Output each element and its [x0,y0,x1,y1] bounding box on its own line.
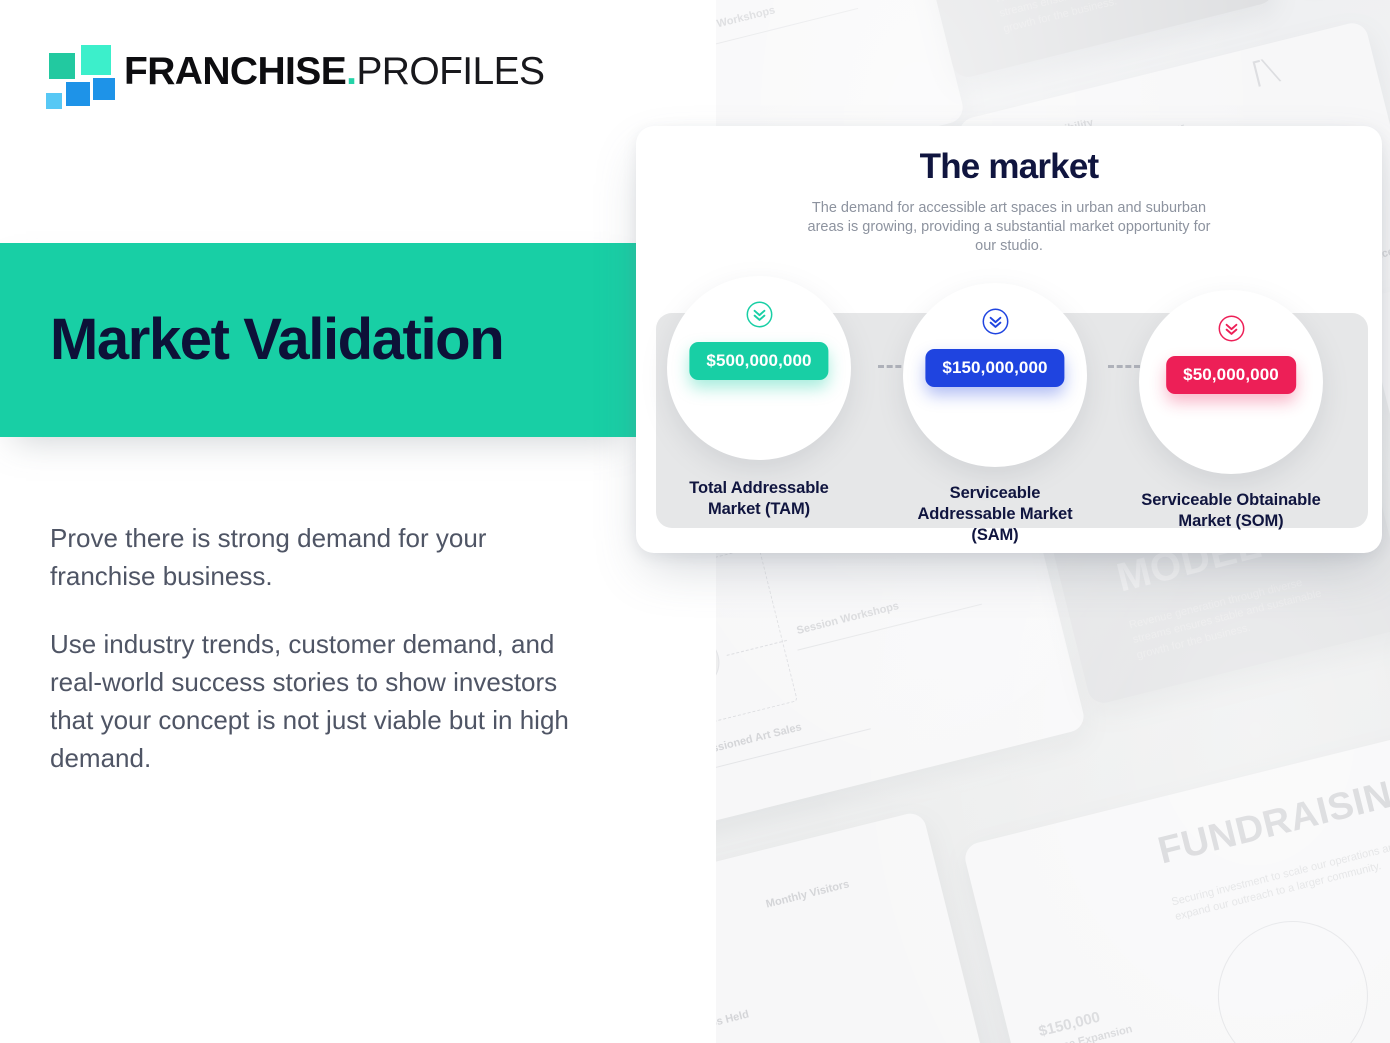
logo-square-2 [81,45,111,75]
body-paragraph-1: Prove there is strong demand for your fr… [50,520,590,596]
bg-slide-card: FUNDRAISING Securing investment to scale… [962,733,1390,1043]
market-node-sam[interactable]: $150,000,000 Serviceable Addressable Mar… [901,283,1089,545]
market-card: The market The demand for accessible art… [636,126,1382,553]
market-bubble-sam: $150,000,000 [903,283,1087,467]
bg-label: Monthly Visitors [765,878,851,910]
bg-label: Session Workshops [795,600,900,637]
brand-name-thin: PROFILES [356,50,544,93]
logo-mark-icon [46,45,106,97]
market-card-title: The market [636,148,1382,187]
market-node-tam[interactable]: $500,000,000 Total Addressable Market (T… [665,276,853,520]
market-value-tam: $500,000,000 [689,342,828,380]
bg-label: Workshops Held [716,1008,750,1041]
body-paragraph-2: Use industry trends, customer demand, an… [50,626,590,778]
brand-name-dot: . [346,50,356,93]
double-chevron-down-icon [1218,315,1245,342]
logo-square-3 [93,78,115,100]
market-card-header: The market The demand for accessible art… [636,126,1382,256]
market-value-sam: $150,000,000 [925,349,1064,387]
market-node-som[interactable]: $50,000,000 Serviceable Obtainable Marke… [1137,290,1325,532]
logo-square-1 [49,53,75,79]
slide-root: $ Drop-In Fees Session Workshops Commiss… [0,0,1390,1043]
market-label-som: Serviceable Obtainable Market (SOM) [1137,490,1325,532]
double-chevron-down-icon [982,308,1009,335]
market-label-sam: Serviceable Addressable Market (SAM) [901,483,1089,545]
hero-body-copy: Prove there is strong demand for your fr… [50,520,590,778]
bg-label: Commissioned Art Sales [716,721,803,764]
market-card-subtitle: The demand for accessible art spaces in … [799,199,1219,257]
market-diagram: $500,000,000 Total Addressable Market (T… [656,313,1368,528]
bg-slide-card: 1,000 Monthly Visitors 75 Workshops Held… [716,810,995,1043]
bg-donut [1202,905,1384,1043]
logo-square-5 [46,93,62,109]
market-value-som: $50,000,000 [1166,356,1296,394]
market-bubble-som: $50,000,000 [1139,290,1323,474]
brand-name-bold: FRANCHISE [124,50,346,93]
bg-card-subtitle: Revenue generation through diverse strea… [994,0,1219,37]
brand-wordmark: FRANCHISE.PROFILES [124,52,544,91]
bg-chart-icon: ⎡╲ [1251,59,1280,86]
market-label-tam: Total Addressable Market (TAM) [665,478,853,520]
hero-title-band: Market Validation [0,243,636,437]
market-bubble-tam: $500,000,000 [667,276,851,460]
page-title: Market Validation [50,310,503,371]
brand-logo[interactable]: FRANCHISE.PROFILES [46,45,544,97]
logo-square-4 [66,82,90,106]
double-chevron-down-icon [746,301,773,328]
